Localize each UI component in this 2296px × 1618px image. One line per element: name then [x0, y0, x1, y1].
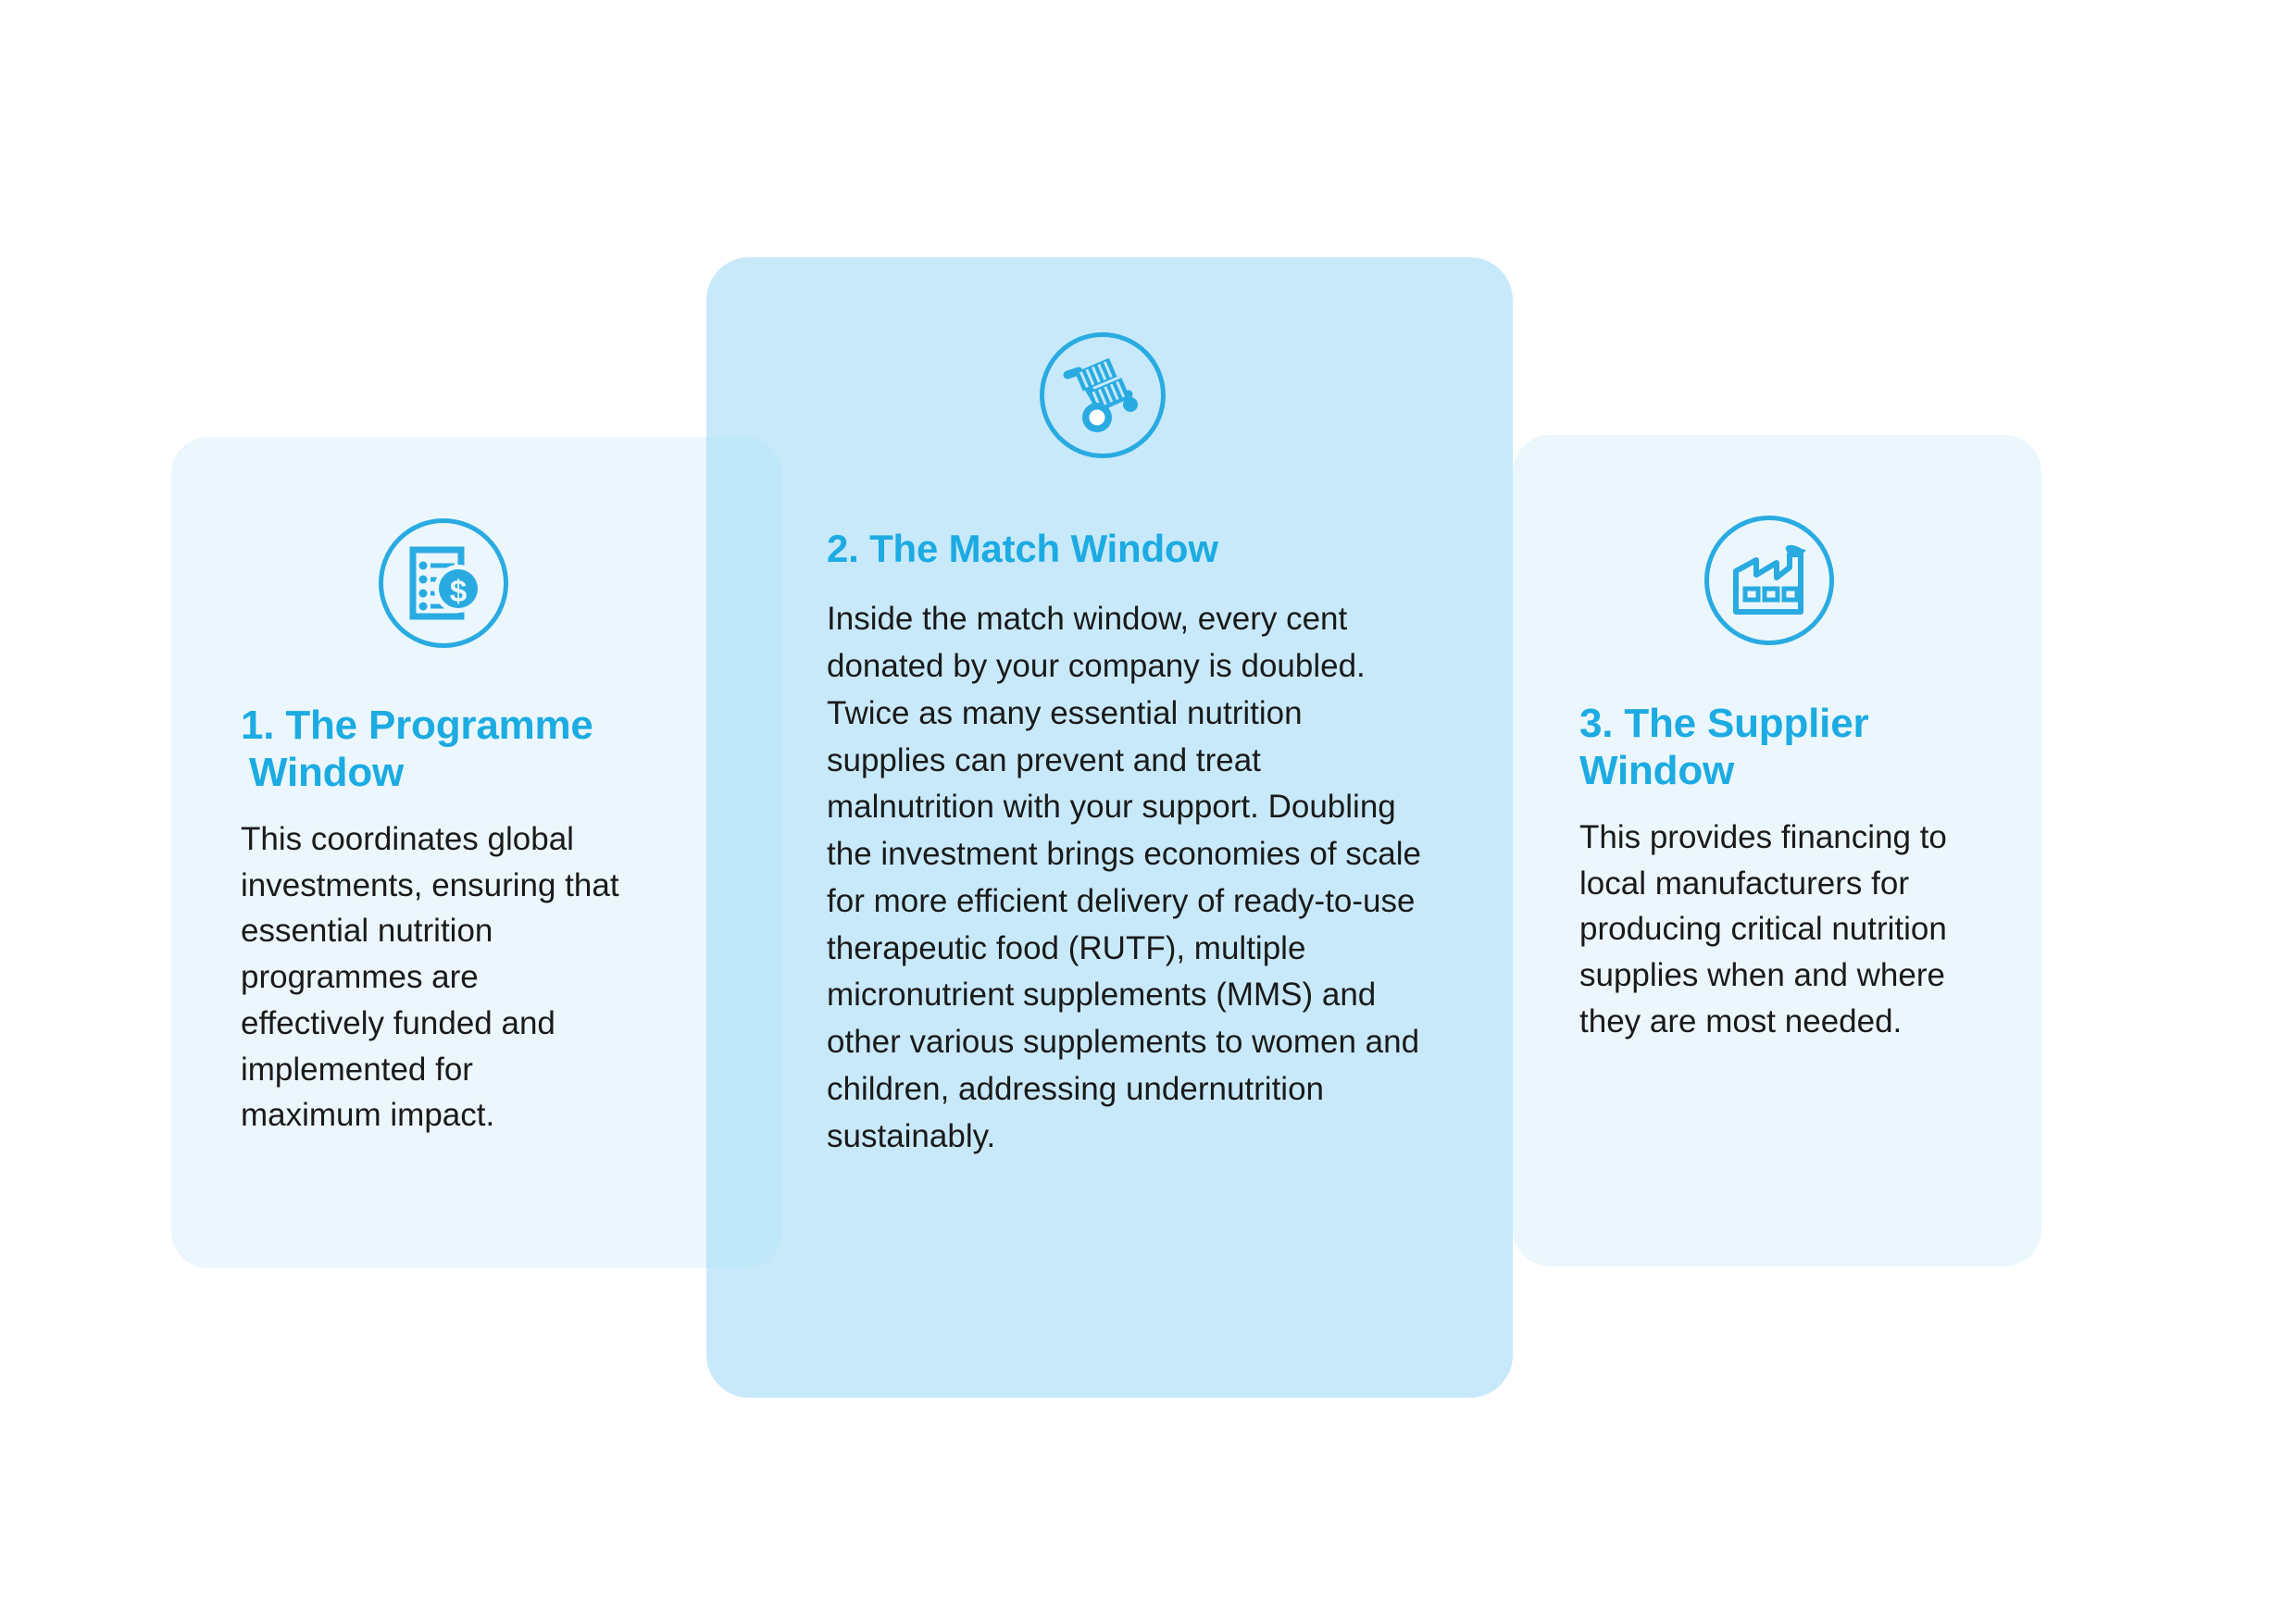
- card-3-description: This provides financing to local manufac…: [1579, 815, 1950, 1044]
- card-programme-window: $ 1. The Programme Window This coordinat…: [171, 437, 782, 1268]
- card-1-title: 1. The Programme Window: [241, 702, 647, 796]
- invoice-dollar-icon: $: [379, 518, 508, 648]
- card-2-description: Inside the match window, every cent dona…: [827, 596, 1429, 1160]
- card-3-title: 3. The Supplier Window: [1579, 700, 1903, 794]
- infographic-canvas: $ 1. The Programme Window This coordinat…: [0, 0, 2296, 1618]
- card-supplier-window: 3. The Supplier Window This provides fin…: [1513, 435, 2041, 1266]
- card-1-body: 1. The Programme Window This coordinates…: [241, 702, 676, 1139]
- card-1-description: This coordinates global investments, ens…: [241, 816, 620, 1139]
- factory-icon: [1704, 516, 1834, 645]
- svg-text:$: $: [450, 574, 467, 608]
- card-2-body: 2. The Match Window Inside the match win…: [827, 526, 1456, 1160]
- card-match-window: 2. The Match Window Inside the match win…: [706, 257, 1513, 1398]
- card-2-title: 2. The Match Window: [827, 526, 1456, 572]
- card-3-body: 3. The Supplier Window This provides fin…: [1579, 700, 2015, 1045]
- hand-truck-icon: [1040, 332, 1166, 458]
